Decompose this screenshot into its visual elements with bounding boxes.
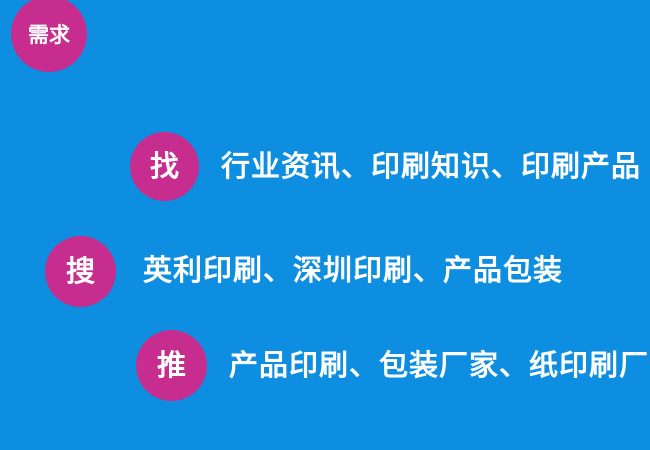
row-badge-search: 搜 xyxy=(45,236,116,307)
row-phrase-promote: 产品印刷、包装厂家、纸印刷厂 xyxy=(229,351,649,380)
row-phrase-find: 行业资讯、印刷知识、印刷产品 xyxy=(221,152,641,181)
row-badge-promote: 推 xyxy=(136,330,207,401)
header-badge-requirement: 需求 xyxy=(11,0,87,72)
row-badge-label-search: 搜 xyxy=(66,257,95,286)
row-phrase-search: 英利印刷、深圳印刷、产品包装 xyxy=(143,256,563,285)
row-badge-label-find: 找 xyxy=(150,152,179,181)
header-badge-label: 需求 xyxy=(28,25,70,46)
poster-canvas: 需求 找 行业资讯、印刷知识、印刷产品 搜 英利印刷、深圳印刷、产品包装 推 产… xyxy=(0,0,650,450)
row-badge-find: 找 xyxy=(130,132,199,201)
row-badge-label-promote: 推 xyxy=(157,351,186,380)
